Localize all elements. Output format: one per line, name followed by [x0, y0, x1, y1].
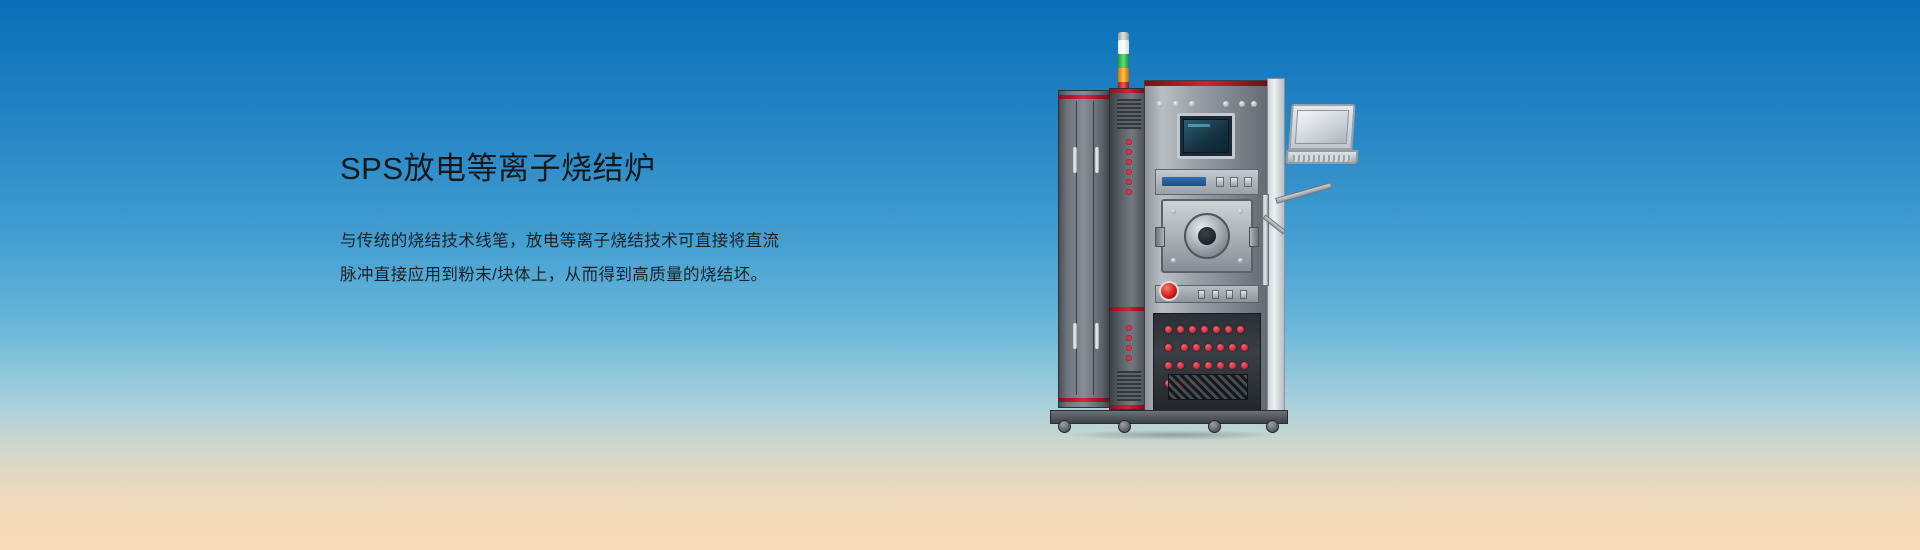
description-line-2: 脉冲直接应用到粉末/块体上，从而得到高质量的烧结坯。 — [340, 258, 900, 292]
hero-copy-block: SPS放电等离子烧结炉 与传统的烧结技术线笔，放电等离子烧结技术可直接将直流 脉… — [340, 150, 900, 292]
description-line-1: 与传统的烧结技术线笔，放电等离子烧结技术可直接将直流 — [340, 224, 900, 258]
ground-shadow — [1068, 430, 1278, 440]
product-photo-sps-furnace — [1040, 18, 1370, 438]
main-control-front-panel — [1144, 80, 1268, 416]
hmi-touch-screen[interactable] — [1177, 113, 1235, 159]
middle-cabinet-panel — [1109, 88, 1147, 410]
control-slab — [1155, 169, 1259, 195]
monitor-support-post — [1262, 194, 1269, 286]
top-accent-stripe — [1145, 81, 1267, 86]
hero-description: 与传统的烧结技术线笔，放电等离子烧结技术可直接将直流 脉冲直接应用到粉末/块体上… — [340, 224, 900, 292]
left-cabinet-door — [1058, 90, 1110, 408]
operator-display[interactable] — [1286, 104, 1358, 176]
right-side-panel — [1267, 78, 1285, 418]
page-title: SPS放电等离子烧结炉 — [340, 150, 900, 189]
vacuum-chamber-door[interactable] — [1161, 199, 1253, 273]
lower-equipment-bay — [1153, 313, 1261, 411]
top-switch-row — [1157, 101, 1257, 109]
emergency-stop-button[interactable] — [1159, 281, 1179, 301]
machine-plinth — [1050, 410, 1288, 424]
product-hero-banner: SPS放电等离子烧结炉 与传统的烧结技术线笔，放电等离子烧结技术可直接将直流 脉… — [0, 0, 1920, 550]
signal-beacon-tower-icon — [1118, 32, 1129, 92]
